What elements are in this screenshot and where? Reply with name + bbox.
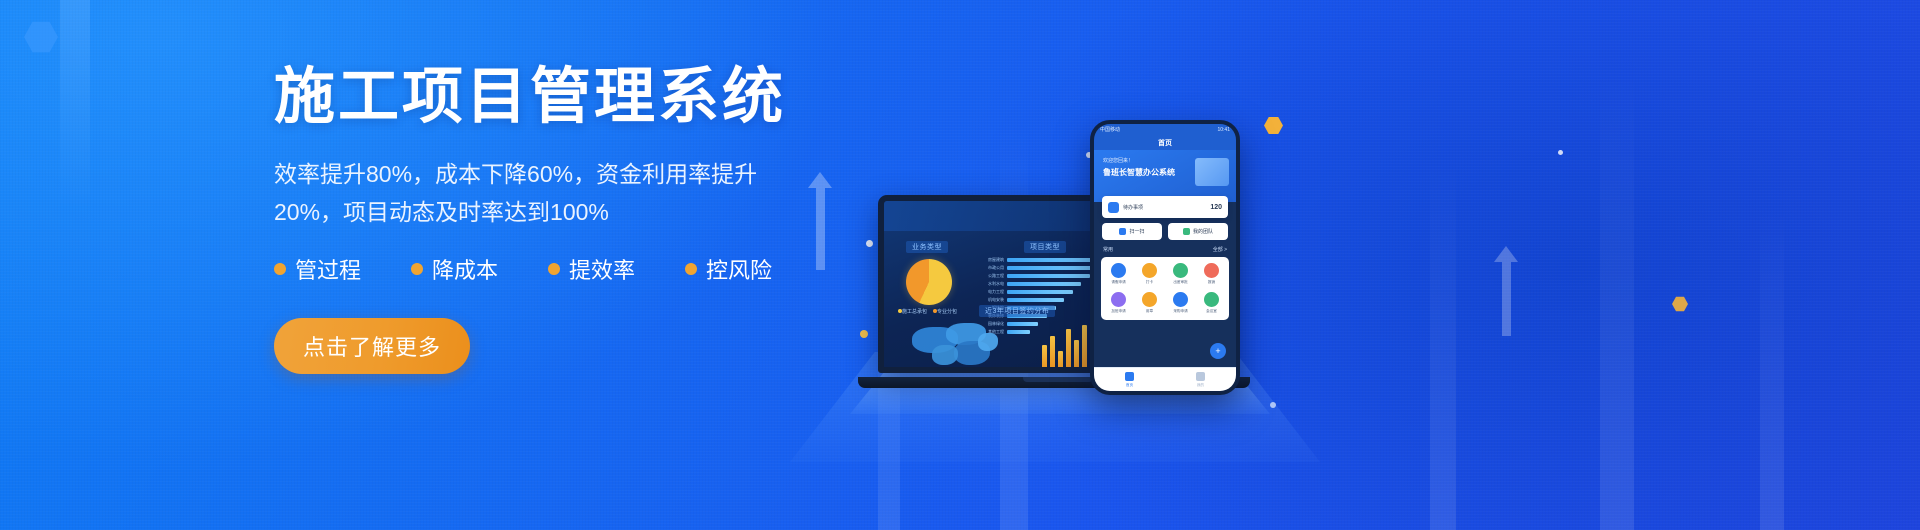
bar-row-label: 机电安装 bbox=[979, 297, 1007, 303]
map-panel-title: 近3年项目签约分布 bbox=[979, 305, 1055, 317]
phone-device: 中国移动 10:41 首页 欢迎您回来！ 鲁班长智慧办公系统 待办事项 120 bbox=[1090, 120, 1240, 395]
hero-subtitle: 效率提升80%，成本下降60%，资金利用率提升20%，项目动态及时率达到100% bbox=[274, 156, 804, 231]
app-grid-item[interactable]: 出差审批 bbox=[1166, 263, 1195, 285]
quick-action-label: 我的团队 bbox=[1193, 228, 1213, 235]
app-label: 出差审批 bbox=[1173, 280, 1187, 285]
bullet-label: 管过程 bbox=[295, 253, 361, 285]
bullet-label: 降成本 bbox=[432, 253, 498, 285]
app-grid-item[interactable]: 加班申请 bbox=[1104, 292, 1133, 314]
vbar bbox=[1058, 351, 1063, 371]
pie-panel-title: 业务类型 bbox=[906, 241, 948, 253]
device-scene: 市场管理报表 438,196.84万元 总合同金额 业务类型 施工总承包 专业分… bbox=[760, 0, 1920, 530]
app-icon bbox=[1173, 292, 1188, 307]
vbar bbox=[1042, 345, 1047, 371]
map-region bbox=[932, 345, 958, 365]
tab-mine[interactable]: 我的 bbox=[1165, 368, 1236, 391]
hero-banner: 施工项目管理系统 效率提升80%，成本下降60%，资金利用率提升20%，项目动态… bbox=[0, 0, 1920, 530]
feature-bullet-3: 控风险 bbox=[685, 253, 772, 285]
bullet-label: 提效率 bbox=[569, 253, 635, 285]
bar-panel-title: 项目类型 bbox=[1024, 241, 1066, 253]
carrier-label: 中国移动 bbox=[1100, 126, 1120, 133]
todo-left: 待办事项 bbox=[1108, 202, 1143, 213]
app-icon bbox=[1204, 263, 1219, 278]
clock-label: 10:41 bbox=[1217, 127, 1230, 133]
bar-row-label: 水利水电 bbox=[979, 281, 1007, 287]
app-icon bbox=[1111, 292, 1126, 307]
bullet-dot-icon bbox=[685, 263, 697, 275]
bar-row-fill bbox=[1007, 282, 1081, 286]
quick-actions: 扫一扫 我的团队 bbox=[1102, 223, 1228, 240]
app-grid-item[interactable]: 采购申请 bbox=[1166, 292, 1195, 314]
app-icon bbox=[1142, 263, 1157, 278]
scan-icon bbox=[1119, 228, 1126, 235]
user-icon bbox=[1196, 372, 1205, 381]
home-icon bbox=[1125, 372, 1134, 381]
vbar bbox=[1074, 340, 1079, 371]
bullet-dot-icon bbox=[548, 263, 560, 275]
app-icon bbox=[1173, 263, 1188, 278]
hero-illustration-icon bbox=[1195, 158, 1229, 186]
feature-bullet-2: 提效率 bbox=[548, 253, 635, 285]
quick-action-scan[interactable]: 扫一扫 bbox=[1102, 223, 1162, 240]
todo-card[interactable]: 待办事项 120 bbox=[1102, 196, 1228, 218]
phone-status-bar: 中国移动 10:41 bbox=[1094, 124, 1236, 135]
vbar bbox=[1050, 336, 1055, 371]
bar-row-label: 市政公用 bbox=[979, 265, 1007, 271]
phone-tabbar: 首页 我的 bbox=[1094, 367, 1236, 391]
app-label: 报销 bbox=[1208, 280, 1215, 285]
decor-hex bbox=[24, 20, 58, 54]
pie-chart bbox=[906, 259, 952, 305]
add-fab-button[interactable]: + bbox=[1210, 343, 1226, 359]
bullet-dot-icon bbox=[274, 263, 286, 275]
vbar bbox=[1066, 329, 1071, 371]
map-region bbox=[978, 333, 998, 351]
china-map bbox=[902, 319, 1022, 371]
quick-action-team[interactable]: 我的团队 bbox=[1168, 223, 1228, 240]
app-grid-item[interactable]: 请假申请 bbox=[1104, 263, 1133, 285]
app-label: 采购申请 bbox=[1173, 309, 1187, 314]
legend-item: 施工总承包 bbox=[898, 308, 927, 315]
todo-icon bbox=[1108, 202, 1119, 213]
bar-row-fill bbox=[1007, 274, 1090, 278]
bar-row-label: 房屋建筑 bbox=[979, 257, 1007, 263]
tab-label: 我的 bbox=[1197, 383, 1204, 388]
phone-hero: 欢迎您回来！ 鲁班长智慧办公系统 bbox=[1094, 150, 1236, 202]
app-label: 用章 bbox=[1146, 309, 1153, 314]
bar-row-fill bbox=[1007, 290, 1073, 294]
feature-bullet-1: 降成本 bbox=[411, 253, 498, 285]
quick-action-label: 扫一扫 bbox=[1129, 228, 1144, 235]
legend-item: 专业分包 bbox=[933, 308, 957, 315]
laptop-notch bbox=[1023, 377, 1093, 382]
app-label: 加班申请 bbox=[1111, 309, 1125, 314]
phone-nav-title: 首页 bbox=[1094, 135, 1236, 150]
app-grid: 请假申请打卡出差审批报销加班申请用章采购申请会议室 bbox=[1101, 257, 1229, 320]
app-grid-item[interactable]: 会议室 bbox=[1197, 292, 1226, 314]
todo-label: 待办事项 bbox=[1123, 204, 1143, 211]
bar-row-label: 公路工程 bbox=[979, 273, 1007, 279]
bar-row-fill bbox=[1007, 298, 1064, 302]
feature-bullet-0: 管过程 bbox=[274, 253, 361, 285]
learn-more-button[interactable]: 点击了解更多 bbox=[274, 318, 470, 374]
app-grid-item[interactable]: 报销 bbox=[1197, 263, 1226, 285]
section-title: 常用 bbox=[1103, 246, 1113, 253]
team-icon bbox=[1183, 228, 1190, 235]
app-label: 请假申请 bbox=[1111, 280, 1125, 285]
section-header: 常用 全部 > bbox=[1103, 246, 1227, 253]
bullet-dot-icon bbox=[411, 263, 423, 275]
app-grid-item[interactable]: 打卡 bbox=[1135, 263, 1164, 285]
pie-legend: 施工总承包 专业分包 bbox=[898, 308, 957, 315]
app-icon bbox=[1204, 292, 1219, 307]
bar-row-fill bbox=[1007, 266, 1099, 270]
tab-home[interactable]: 首页 bbox=[1094, 368, 1165, 391]
app-label: 会议室 bbox=[1206, 309, 1217, 314]
app-icon bbox=[1142, 292, 1157, 307]
app-icon bbox=[1111, 263, 1126, 278]
todo-count: 120 bbox=[1210, 204, 1222, 211]
bar-row-label: 电力工程 bbox=[979, 289, 1007, 295]
app-grid-item[interactable]: 用章 bbox=[1135, 292, 1164, 314]
section-more-link[interactable]: 全部 > bbox=[1213, 246, 1227, 253]
tab-label: 首页 bbox=[1126, 383, 1133, 388]
app-label: 打卡 bbox=[1146, 280, 1153, 285]
vbar bbox=[1082, 325, 1087, 371]
decor-light-bar bbox=[60, 0, 90, 210]
